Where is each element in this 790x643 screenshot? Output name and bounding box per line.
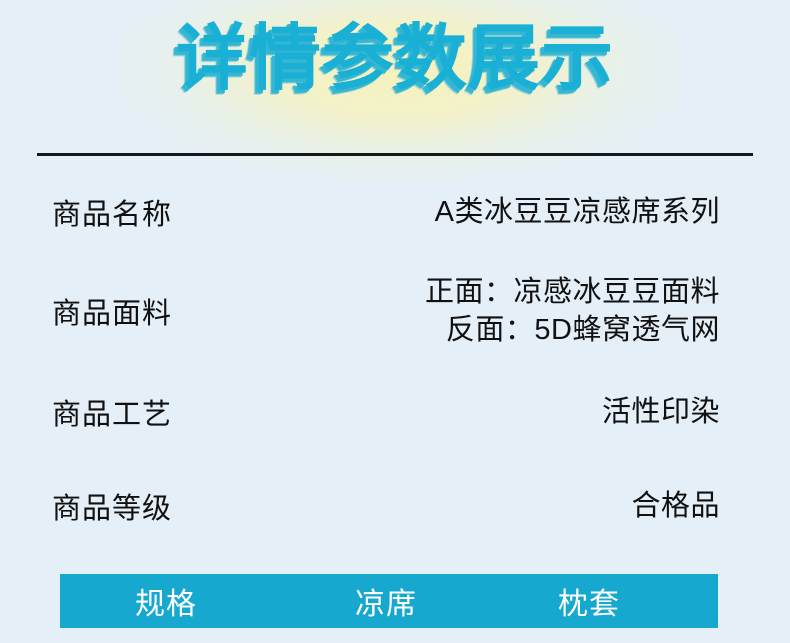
spec-value-line: 活性印染: [602, 393, 720, 431]
page-title: 详情参数展示: [0, 16, 790, 102]
size-table-header-spec: 规格: [135, 579, 197, 623]
size-table-header-mat: 凉席: [355, 579, 417, 623]
spec-value-line: 合格品: [631, 487, 720, 525]
size-table-header-bar: 规格 凉席 枕套: [60, 574, 718, 628]
spec-label-craft: 商品工艺: [52, 391, 172, 433]
spec-value-fabric: 正面：凉感冰豆豆面料 反面：5D蜂窝透气网: [425, 273, 720, 349]
spec-value-line: A类冰豆豆凉感席系列: [435, 193, 720, 231]
table-row: 商品工艺 活性印染: [0, 366, 790, 458]
spec-value-craft: 活性印染: [602, 393, 720, 431]
spec-label-grade: 商品等级: [52, 485, 172, 527]
table-row: 商品名称 A类冰豆豆凉感席系列: [0, 168, 790, 256]
spec-value-line: 正面：凉感冰豆豆面料: [425, 273, 720, 311]
header-divider: [37, 153, 753, 156]
spec-value-product-name: A类冰豆豆凉感席系列: [435, 193, 720, 231]
spec-table: 商品名称 A类冰豆豆凉感席系列 商品面料 正面：凉感冰豆豆面料 反面：5D蜂窝透…: [0, 168, 790, 553]
spec-value-line: 反面：5D蜂窝透气网: [425, 311, 720, 349]
spec-label-product-name: 商品名称: [52, 191, 172, 233]
size-table-header-pillowcase: 枕套: [558, 579, 620, 623]
product-spec-page: 详情参数展示 商品名称 A类冰豆豆凉感席系列 商品面料 正面：凉感冰豆豆面料 反…: [0, 0, 790, 643]
table-row: 商品等级 合格品: [0, 458, 790, 553]
spec-label-fabric: 商品面料: [52, 290, 172, 332]
table-row: 商品面料 正面：凉感冰豆豆面料 反面：5D蜂窝透气网: [0, 256, 790, 366]
page-header: 详情参数展示: [0, 0, 790, 140]
spec-value-grade: 合格品: [631, 487, 720, 525]
